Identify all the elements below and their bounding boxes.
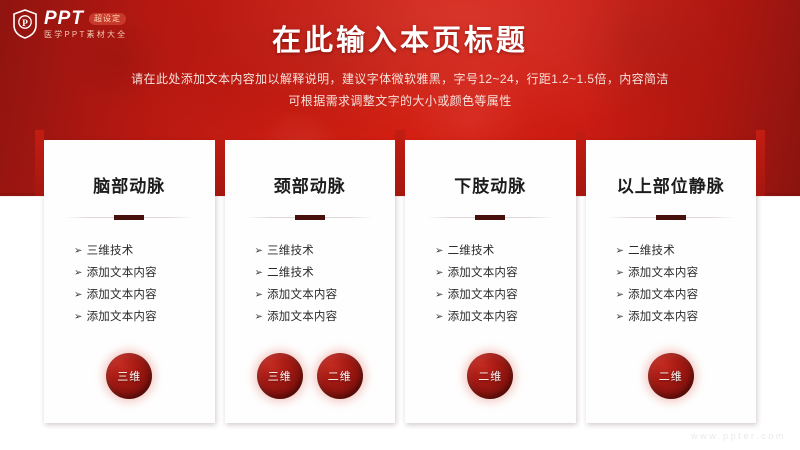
sphere-badge-label: 二维	[328, 368, 352, 384]
card-bullet-list: ➢三维技术 ➢添加文本内容 ➢添加文本内容 ➢添加文本内容	[44, 240, 215, 328]
card-bullet-list: ➢二维技术 ➢添加文本内容 ➢添加文本内容 ➢添加文本内容	[586, 240, 757, 328]
card-accent-bar-left	[216, 130, 225, 196]
list-item: ➢添加文本内容	[74, 284, 215, 306]
card-badge-group: 三维	[44, 353, 215, 399]
subtitle-line-1: 请在此处添加文本内容加以解释说明，建议字体微软雅黑，字号12~24，行距1.2~…	[0, 68, 800, 90]
arrow-bullet-icon: ➢	[74, 308, 83, 327]
list-item-label: 二维技术	[448, 240, 495, 262]
card-divider	[246, 217, 374, 218]
list-item-label: 添加文本内容	[87, 284, 157, 306]
list-item-label: 二维技术	[628, 240, 675, 262]
logo-primary-row: PPT 超设定	[44, 9, 127, 28]
list-item-label: 添加文本内容	[267, 284, 337, 306]
arrow-bullet-icon: ➢	[255, 308, 264, 327]
svg-text:P: P	[22, 19, 28, 29]
list-item: ➢添加文本内容	[255, 306, 396, 328]
card-accent-bar-left	[396, 130, 405, 196]
sphere-badge[interactable]: 二维	[317, 353, 363, 399]
logo-text-group: PPT 超设定 医学PPT素材大全	[44, 8, 127, 39]
card-badge-group: 二维	[586, 353, 757, 399]
list-item: ➢添加文本内容	[255, 284, 396, 306]
arrow-bullet-icon: ➢	[435, 308, 444, 327]
content-card[interactable]: 颈部动脉 ➢三维技术 ➢二维技术 ➢添加文本内容 ➢添加文本内容 三维 二维	[225, 140, 396, 423]
sphere-badge[interactable]: 二维	[648, 353, 694, 399]
list-item-label: 添加文本内容	[628, 306, 698, 328]
list-item-label: 添加文本内容	[267, 306, 337, 328]
list-item: ➢添加文本内容	[616, 262, 757, 284]
footer-watermark-url: www.ppter.com	[691, 431, 786, 441]
list-item-label: 二维技术	[267, 262, 314, 284]
list-item: ➢添加文本内容	[435, 262, 576, 284]
card-bullet-list: ➢三维技术 ➢二维技术 ➢添加文本内容 ➢添加文本内容	[225, 240, 396, 328]
list-item-label: 添加文本内容	[448, 262, 518, 284]
list-item: ➢二维技术	[616, 240, 757, 262]
sphere-badge[interactable]: 三维	[257, 353, 303, 399]
card-title: 以上部位静脉	[586, 172, 757, 197]
card-accent-bar-right	[756, 130, 765, 196]
arrow-bullet-icon: ➢	[616, 308, 625, 327]
arrow-bullet-icon: ➢	[255, 264, 264, 283]
brand-logo[interactable]: P PPT 超设定 医学PPT素材大全	[12, 8, 127, 39]
card-badge-group: 三维 二维	[225, 353, 396, 399]
list-item: ➢添加文本内容	[435, 284, 576, 306]
card-badge-group: 二维	[405, 353, 576, 399]
arrow-bullet-icon: ➢	[74, 286, 83, 305]
subtitle-line-2: 可根据需求调整文字的大小或颜色等属性	[0, 90, 800, 112]
arrow-bullet-icon: ➢	[616, 286, 625, 305]
arrow-bullet-icon: ➢	[435, 286, 444, 305]
list-item: ➢添加文本内容	[74, 306, 215, 328]
arrow-bullet-icon: ➢	[616, 264, 625, 283]
card-divider	[65, 217, 193, 218]
arrow-bullet-icon: ➢	[74, 264, 83, 283]
logo-badge: 超设定	[89, 13, 126, 25]
list-item-label: 添加文本内容	[448, 284, 518, 306]
arrow-bullet-icon: ➢	[435, 242, 444, 261]
content-card[interactable]: 脑部动脉 ➢三维技术 ➢添加文本内容 ➢添加文本内容 ➢添加文本内容 三维	[44, 140, 215, 423]
slide-canvas: P PPT 超设定 医学PPT素材大全 在此输入本页标题 请在此处添加文本内容加…	[0, 0, 800, 450]
arrow-bullet-icon: ➢	[255, 242, 264, 261]
list-item-label: 添加文本内容	[87, 306, 157, 328]
page-subtitle: 请在此处添加文本内容加以解释说明，建议字体微软雅黑，字号12~24，行距1.2~…	[0, 68, 800, 112]
sphere-badge-label: 三维	[117, 368, 141, 384]
content-card[interactable]: 以上部位静脉 ➢二维技术 ➢添加文本内容 ➢添加文本内容 ➢添加文本内容 二维	[586, 140, 757, 423]
list-item-label: 添加文本内容	[628, 284, 698, 306]
arrow-bullet-icon: ➢	[74, 242, 83, 261]
list-item: ➢添加文本内容	[616, 306, 757, 328]
list-item-label: 添加文本内容	[448, 306, 518, 328]
shield-icon: P	[12, 9, 38, 39]
card-row: 脑部动脉 ➢三维技术 ➢添加文本内容 ➢添加文本内容 ➢添加文本内容 三维 颈部…	[44, 140, 756, 423]
card-accent-bar-left	[35, 130, 44, 196]
list-item: ➢三维技术	[74, 240, 215, 262]
list-item-label: 三维技术	[87, 240, 134, 262]
sphere-badge-label: 二维	[478, 368, 502, 384]
card-divider	[607, 217, 735, 218]
sphere-badge-label: 二维	[659, 368, 683, 384]
card-title: 脑部动脉	[44, 172, 215, 197]
list-item: ➢添加文本内容	[74, 262, 215, 284]
sphere-badge[interactable]: 三维	[106, 353, 152, 399]
list-item: ➢二维技术	[435, 240, 576, 262]
list-item: ➢二维技术	[255, 262, 396, 284]
arrow-bullet-icon: ➢	[255, 286, 264, 305]
card-title: 下肢动脉	[405, 172, 576, 197]
list-item-label: 三维技术	[267, 240, 314, 262]
list-item-label: 添加文本内容	[87, 262, 157, 284]
list-item: ➢三维技术	[255, 240, 396, 262]
list-item-label: 添加文本内容	[628, 262, 698, 284]
list-item: ➢添加文本内容	[435, 306, 576, 328]
card-title: 颈部动脉	[225, 172, 396, 197]
logo-brand-text: PPT	[44, 9, 84, 28]
sphere-badge[interactable]: 二维	[467, 353, 513, 399]
sphere-badge-label: 三维	[268, 368, 292, 384]
card-bullet-list: ➢二维技术 ➢添加文本内容 ➢添加文本内容 ➢添加文本内容	[405, 240, 576, 328]
arrow-bullet-icon: ➢	[616, 242, 625, 261]
logo-tagline: 医学PPT素材大全	[44, 31, 127, 39]
content-card[interactable]: 下肢动脉 ➢二维技术 ➢添加文本内容 ➢添加文本内容 ➢添加文本内容 二维	[405, 140, 576, 423]
card-divider	[426, 217, 554, 218]
list-item: ➢添加文本内容	[616, 284, 757, 306]
arrow-bullet-icon: ➢	[435, 264, 444, 283]
card-accent-bar-left	[577, 130, 586, 196]
